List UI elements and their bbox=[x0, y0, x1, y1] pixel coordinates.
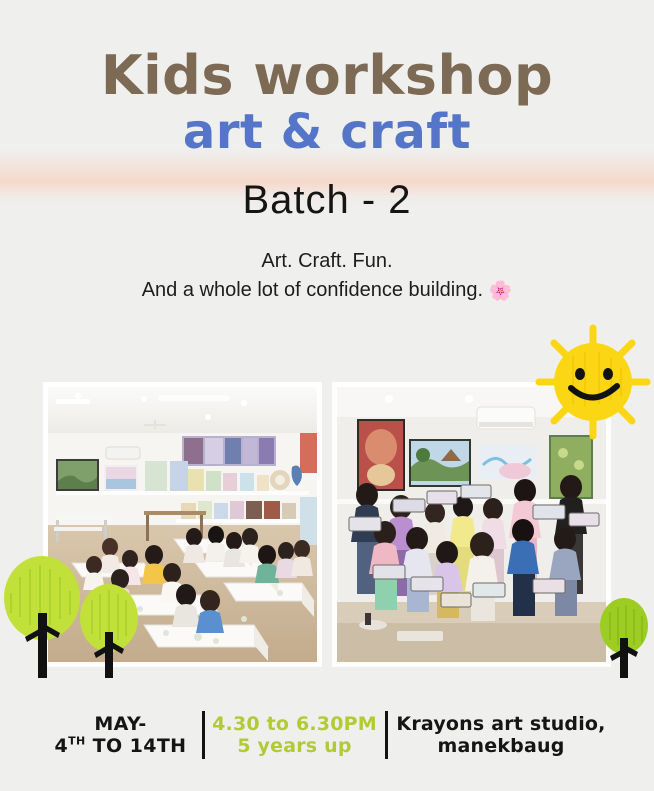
event-info-bar: MAY- 4TH TO 14TH 4.30 to 6.30PM 5 years … bbox=[0, 704, 654, 766]
divider-2 bbox=[385, 711, 388, 759]
headline-secondary: art & craft bbox=[0, 107, 654, 157]
event-time: 4.30 to 6.30PM bbox=[211, 713, 379, 735]
venue-location: manekbaug bbox=[394, 735, 609, 757]
event-venue-block: Krayons art studio, manekbaug bbox=[394, 713, 609, 757]
event-time-block: 4.30 to 6.30PM 5 years up bbox=[211, 713, 379, 757]
batch-label: Batch - 2 bbox=[0, 179, 654, 221]
event-date-line-2: 4TH TO 14TH bbox=[46, 735, 196, 757]
kids-group-photo bbox=[333, 383, 610, 666]
art-studio-classroom-photo bbox=[44, 383, 321, 666]
venue-name: Krayons art studio, bbox=[394, 713, 609, 735]
divider-1 bbox=[202, 711, 205, 759]
headline-primary: Kids workshop bbox=[0, 48, 654, 103]
photo-frame-left bbox=[48, 387, 317, 662]
tagline-line-1: Art. Craft. Fun. bbox=[261, 250, 392, 272]
event-date-line-1: MAY- bbox=[46, 713, 196, 735]
classroom-illustration bbox=[48, 387, 317, 662]
event-date-block: MAY- 4TH TO 14TH bbox=[46, 713, 196, 757]
tagline-block: Art. Craft. Fun. And a whole lot of conf… bbox=[0, 247, 654, 305]
event-date-ordinal: TH bbox=[68, 735, 86, 748]
event-date-range: TO 14TH bbox=[86, 735, 187, 757]
tagline-line-2: And a whole lot of confidence building. bbox=[142, 279, 483, 301]
event-age-requirement: 5 years up bbox=[211, 735, 379, 757]
poster-header: Kids workshop art & craft Batch - 2 Art.… bbox=[0, 0, 654, 306]
kids-group-illustration bbox=[337, 387, 606, 662]
photo-frame-right bbox=[337, 387, 606, 662]
poster-canvas: Kids workshop art & craft Batch - 2 Art.… bbox=[0, 0, 654, 791]
cherry-blossom-icon: 🌸 bbox=[489, 281, 513, 302]
photo-row bbox=[44, 383, 610, 666]
event-date-day: 4 bbox=[55, 735, 69, 757]
